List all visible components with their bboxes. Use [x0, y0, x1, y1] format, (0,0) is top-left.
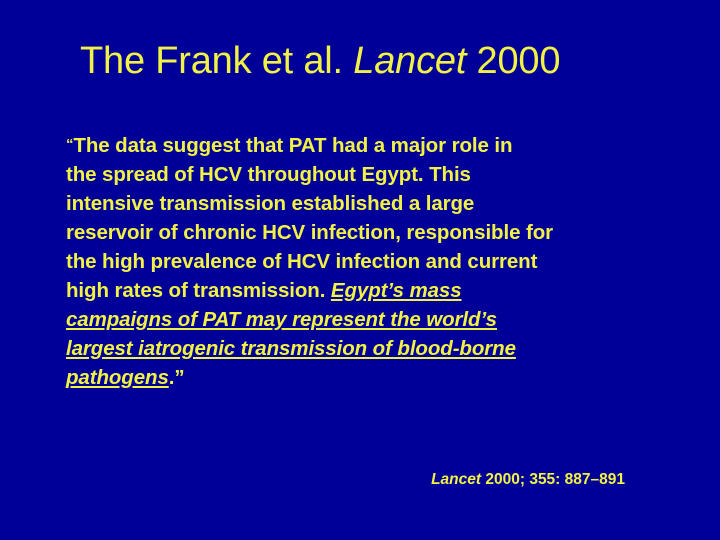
quote-line: “The data suggest that PAT had a major r…	[66, 130, 646, 160]
quote-line: the high prevalence of HCV infection and…	[66, 247, 646, 276]
title-journal-name: Lancet	[353, 40, 466, 82]
quote-line-text: reservoir of chronic HCV infection, resp…	[66, 221, 553, 244]
quote-line-text: The data suggest that PAT had a major ro…	[73, 134, 512, 157]
quote-line: campaigns of PAT may represent the world…	[66, 305, 646, 334]
quote-line-text: the high prevalence of HCV infection and…	[66, 250, 537, 273]
title-prefix: The Frank et al.	[80, 40, 353, 82]
slide-canvas: The Frank et al. Lancet 2000 “The data s…	[0, 0, 720, 540]
quote-line-text: the spread of HCV throughout Egypt. This	[66, 163, 471, 186]
page-title: The Frank et al. Lancet 2000	[80, 38, 680, 84]
quote-line: pathogens.”	[66, 363, 646, 392]
quote-line: high rates of transmission. Egypt’s mass	[66, 276, 646, 305]
quote-emphasis-text: largest iatrogenic transmission of blood…	[66, 337, 516, 360]
close-quote-mark: .”	[169, 366, 185, 389]
quote-line: the spread of HCV throughout Egypt. This	[66, 160, 646, 189]
quote-line-text: high rates of transmission.	[66, 279, 331, 302]
quote-emphasis-text: Egypt’s mass	[331, 279, 462, 302]
title-year: 2000	[466, 40, 560, 82]
quote-emphasis-text: campaigns of PAT may represent the world…	[66, 308, 497, 331]
quote-line: intensive transmission established a lar…	[66, 189, 646, 218]
quote-line-text: intensive transmission established a lar…	[66, 192, 474, 215]
citation-details: 2000; 355: 887–891	[481, 471, 625, 488]
quote-line: largest iatrogenic transmission of blood…	[66, 334, 646, 363]
citation-journal-name: Lancet	[431, 471, 481, 488]
source-citation: Lancet 2000; 355: 887–891	[0, 470, 625, 490]
quote-body: “The data suggest that PAT had a major r…	[66, 130, 646, 392]
quote-line: reservoir of chronic HCV infection, resp…	[66, 218, 646, 247]
quote-emphasis-text: pathogens	[66, 366, 169, 389]
